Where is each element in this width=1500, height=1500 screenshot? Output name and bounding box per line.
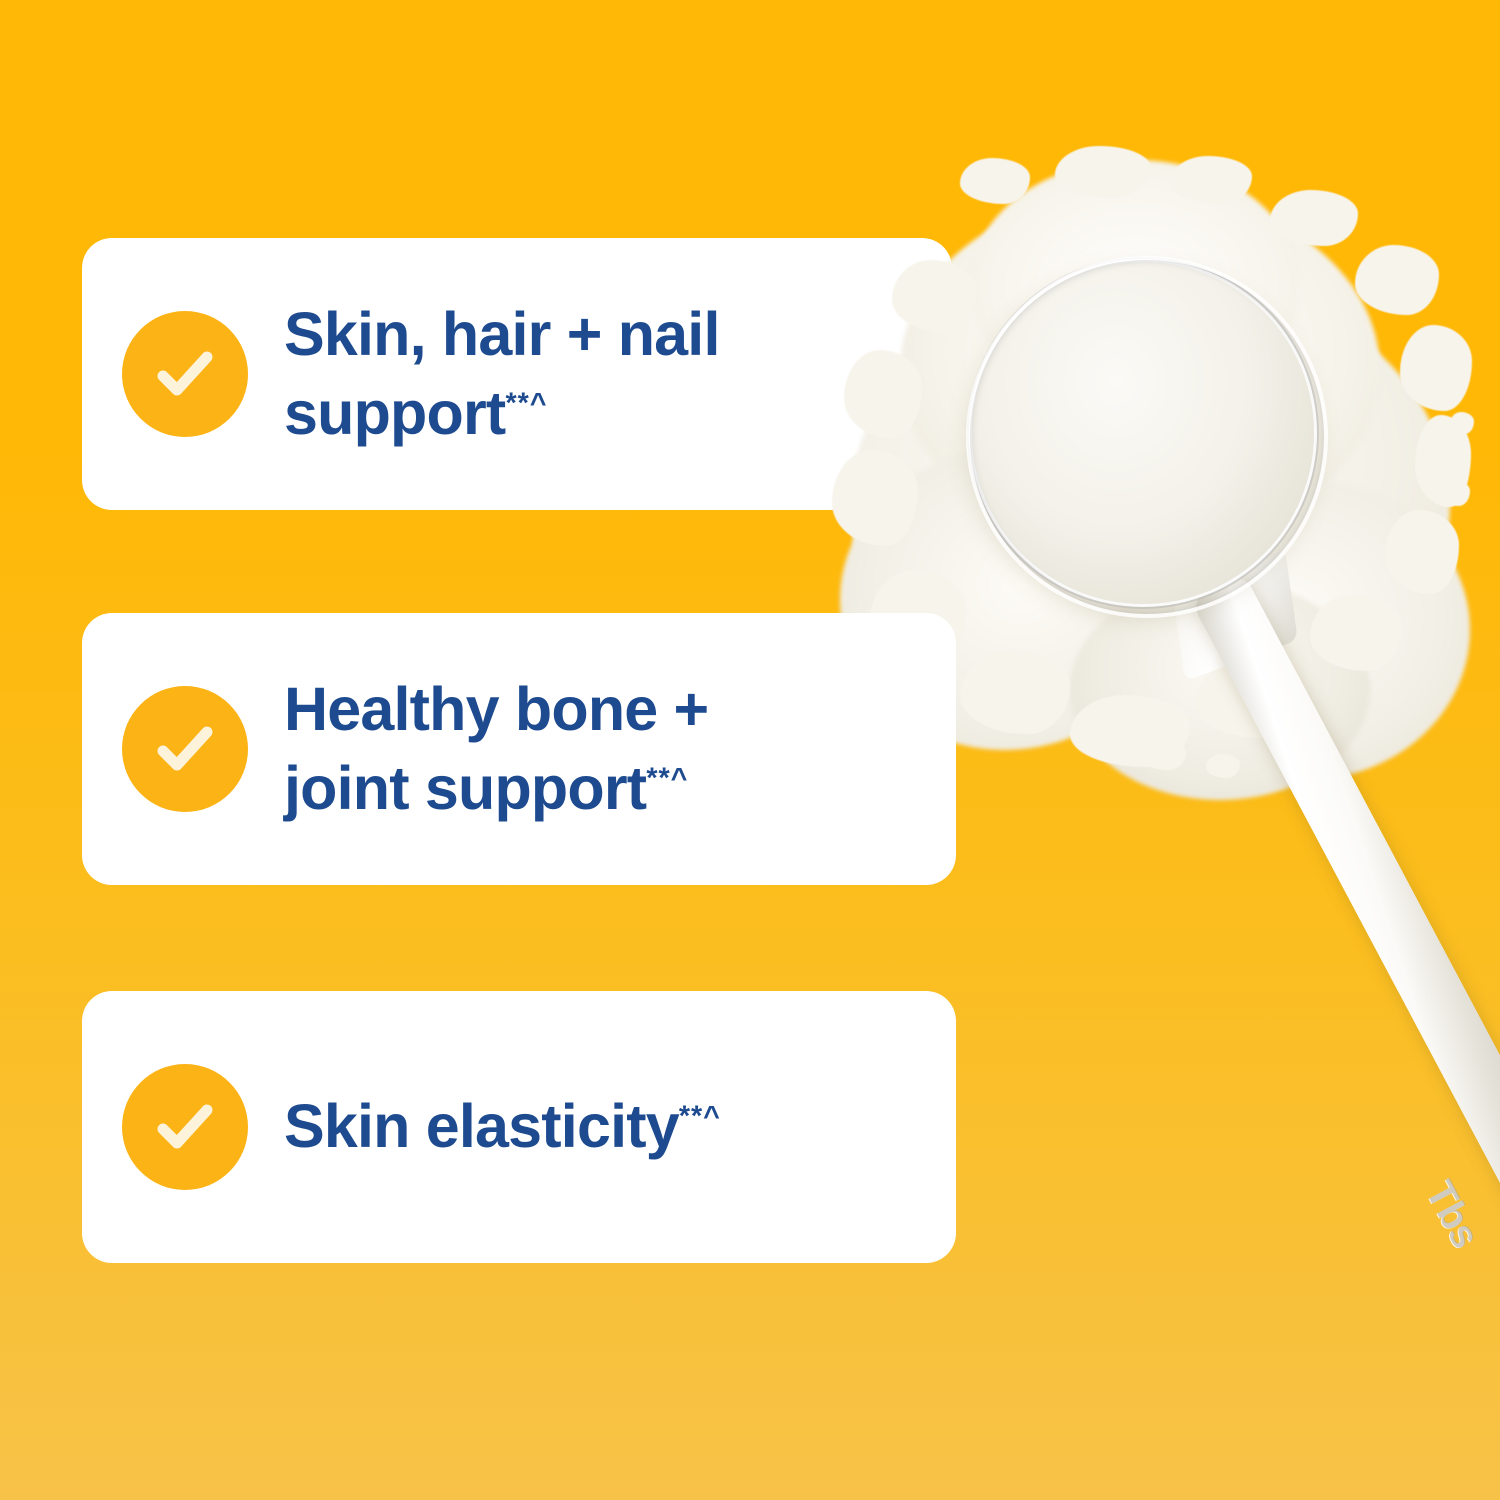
- benefit-text: Skin elasticity: [284, 1092, 679, 1160]
- benefit-label: Skin, hair + nail support**^: [284, 295, 844, 454]
- scoop-handle-emboss: Tbs: [1416, 1174, 1488, 1255]
- check-icon: [122, 311, 248, 437]
- benefit-card-healthy-bone-joint: Healthy bone + joint support**^: [82, 613, 956, 885]
- benefit-superscript: **^: [646, 763, 688, 795]
- benefit-card-skin-hair-nail: Skin, hair + nail support**^: [82, 238, 952, 510]
- benefit-card-skin-elasticity: Skin elasticity**^: [82, 991, 956, 1263]
- product-benefits-graphic: Skin, hair + nail support**^: [0, 0, 1500, 1500]
- scoop-handle: [1190, 572, 1500, 1271]
- check-icon: [122, 686, 248, 812]
- check-icon: [122, 1064, 248, 1190]
- benefit-superscript: **^: [679, 1101, 721, 1133]
- scoop-rim: [966, 256, 1328, 618]
- benefit-text: Skin, hair + nail support: [284, 300, 720, 447]
- benefit-text: Healthy bone + joint support: [284, 675, 708, 822]
- benefit-superscript: **^: [505, 388, 547, 420]
- benefit-label: Skin elasticity**^: [284, 1087, 721, 1166]
- scoop-handle-joint: [1172, 549, 1298, 681]
- benefit-label: Healthy bone + joint support**^: [284, 670, 844, 829]
- scoop-bowl: [972, 262, 1314, 604]
